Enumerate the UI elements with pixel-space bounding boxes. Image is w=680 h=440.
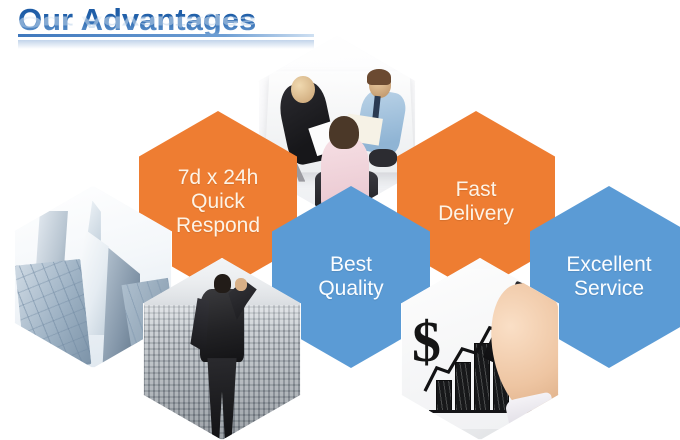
hex-excellent-service-label: Excellent Service xyxy=(558,253,659,301)
hex-fast-delivery-label: Fast Delivery xyxy=(430,178,522,226)
hex-quick-respond-label: 7d x 24h Quick Respond xyxy=(168,166,268,238)
quick-respond-line-2: Quick xyxy=(176,190,260,214)
best-quality-line-1: Best xyxy=(318,253,383,277)
excellent-service-line-1: Excellent xyxy=(566,253,651,277)
hex-best-quality-label: Best Quality xyxy=(310,253,391,301)
fast-delivery-line-1: Fast xyxy=(438,178,514,202)
advantages-hex-grid: 7d x 24h Quick Respond Fast Delivery Bes… xyxy=(0,0,680,400)
quick-respond-line-1: 7d x 24h xyxy=(176,166,260,190)
fast-delivery-line-2: Delivery xyxy=(438,202,514,226)
excellent-service-line-2: Service xyxy=(566,277,651,301)
quick-respond-line-3: Respond xyxy=(176,214,260,238)
best-quality-line-2: Quality xyxy=(318,277,383,301)
